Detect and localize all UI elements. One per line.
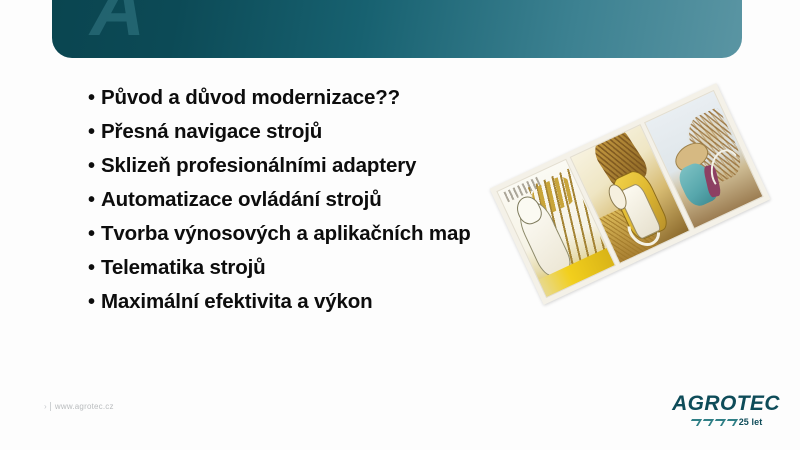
sickle-icon — [710, 149, 742, 192]
footer-divider — [50, 402, 51, 411]
bullet-text: Původ a důvod modernizace?? — [101, 88, 400, 109]
chevrons-icon — [690, 419, 736, 426]
bullet-list: • Původ a důvod modernizace?? • Přesná n… — [88, 88, 558, 326]
list-item: • Automatizace ovládání strojů — [88, 190, 558, 211]
bullet-dot-icon: • — [88, 122, 101, 142]
list-item: • Maximální efektivita a výkon — [88, 292, 558, 313]
list-item: • Telematika strojů — [88, 258, 558, 279]
bullet-text: Tvorba výnosových a aplikačních map — [101, 224, 471, 245]
bullet-text: Sklizeň profesionálními adaptery — [101, 156, 416, 177]
logo-subline: 25 let — [670, 417, 782, 427]
chevron-right-icon: › — [44, 402, 47, 411]
header-banner: A — [52, 0, 742, 58]
list-item: • Tvorba výnosových a aplikačních map — [88, 224, 558, 245]
bullet-text: Přesná navigace strojů — [101, 122, 322, 143]
bullet-dot-icon: • — [88, 224, 101, 244]
agrotec-logo: AGROTEC 25 let — [670, 393, 782, 427]
bullet-text: Automatizace ovládání strojů — [101, 190, 382, 211]
bullet-dot-icon: • — [88, 88, 101, 108]
bullet-dot-icon: • — [88, 292, 101, 312]
bullet-text: Telematika strojů — [101, 258, 266, 279]
bullet-text: Maximální efektivita a výkon — [101, 292, 373, 313]
logo-wordmark: AGROTEC — [670, 393, 782, 414]
logo-years-text: 25 let — [739, 417, 763, 427]
list-item: • Původ a důvod modernizace?? — [88, 88, 558, 109]
list-item: • Sklizeň profesionálními adaptery — [88, 156, 558, 177]
footer-url-text: www.agrotec.cz — [55, 402, 114, 411]
bullet-dot-icon: • — [88, 156, 101, 176]
bullet-dot-icon: • — [88, 190, 101, 210]
bullet-dot-icon: • — [88, 258, 101, 278]
brand-letter-watermark: A — [90, 0, 143, 48]
footer-url[interactable]: › www.agrotec.cz — [44, 402, 114, 411]
list-item: • Přesná navigace strojů — [88, 122, 558, 143]
